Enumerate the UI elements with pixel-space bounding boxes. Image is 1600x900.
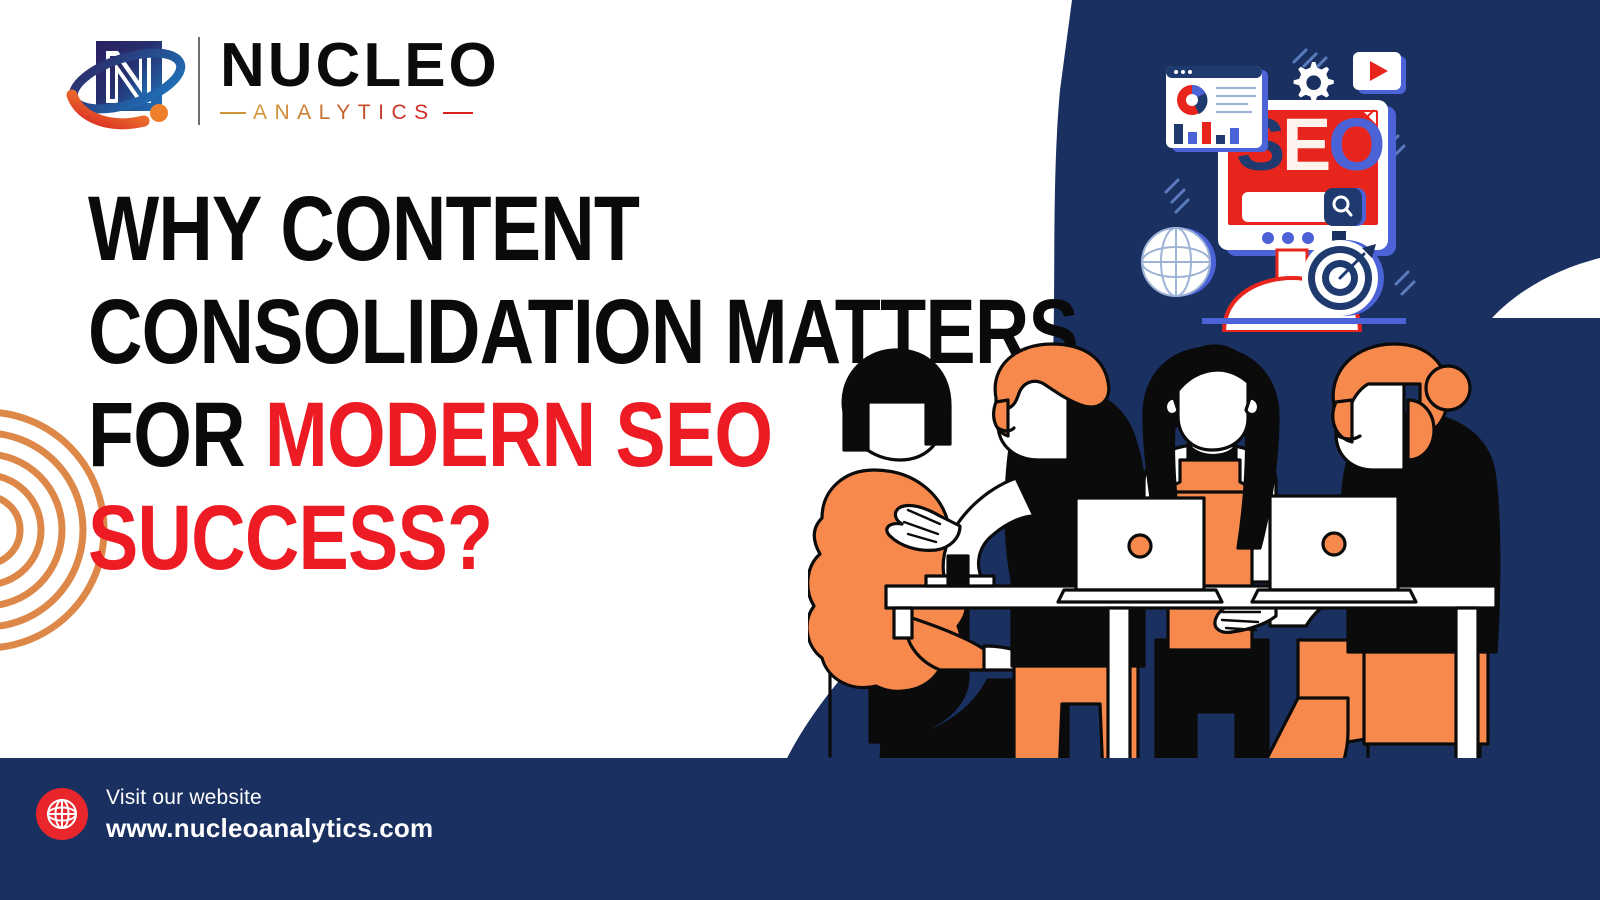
brand-logo[interactable]: NUCLEO ANALYTICS (66, 22, 500, 140)
laptop-right (1252, 496, 1416, 602)
brand-tagline: ANALYTICS (251, 101, 438, 125)
headline-line-3-black: FOR (88, 384, 265, 486)
headline-line-4: SUCCESS? (88, 487, 736, 590)
video-play-icon (1353, 52, 1406, 94)
page-title: WHY CONTENT CONSOLIDATION MATTERS FOR MO… (88, 178, 736, 590)
monitor-dots (1262, 232, 1314, 244)
laptop-left (1058, 498, 1222, 602)
footer-bar: Visit our website www.nucleoanalytics.co… (0, 758, 1600, 900)
tagline-dash-left (220, 112, 246, 115)
brand-name: NUCLEO (220, 37, 500, 96)
tagline-dash-right (443, 112, 473, 115)
footer-visit-label: Visit our website (106, 784, 433, 811)
seo-letter-o: O (1328, 103, 1386, 186)
footer-website-url[interactable]: www.nucleoanalytics.com (106, 812, 433, 845)
gear-icon (1294, 62, 1334, 102)
headline-line-2: CONSOLIDATION MATTERS (88, 281, 736, 384)
globe-icon (45, 797, 79, 831)
seo-illustration: S E O (1124, 40, 1424, 332)
brand-tagline-row: ANALYTICS (220, 101, 500, 125)
footer-text-block: Visit our website www.nucleoanalytics.co… (106, 784, 433, 845)
headline-line-1: WHY CONTENT (88, 178, 736, 281)
footer-content[interactable]: Visit our website www.nucleoanalytics.co… (36, 784, 433, 845)
nucleo-logo-mark-icon (66, 25, 188, 137)
logo-wordmark: NUCLEO ANALYTICS (220, 37, 500, 125)
logo-divider (198, 37, 200, 125)
headline-line-3: FOR MODERN SEO (88, 384, 736, 487)
seo-letter-e: E (1282, 103, 1331, 186)
banner-canvas: NUCLEO ANALYTICS WHY CONTENT CONSOLIDATI… (0, 0, 1600, 900)
analytics-chart-card-icon (1166, 66, 1268, 152)
donut-chart (1177, 85, 1207, 115)
target-dartboard-icon (1302, 240, 1384, 316)
headline-line-3-red: MODERN SEO (265, 384, 772, 486)
search-bar-icon[interactable] (1242, 188, 1366, 226)
globe-icon-badge (36, 788, 88, 840)
globe-wireframe-icon (1142, 228, 1216, 296)
